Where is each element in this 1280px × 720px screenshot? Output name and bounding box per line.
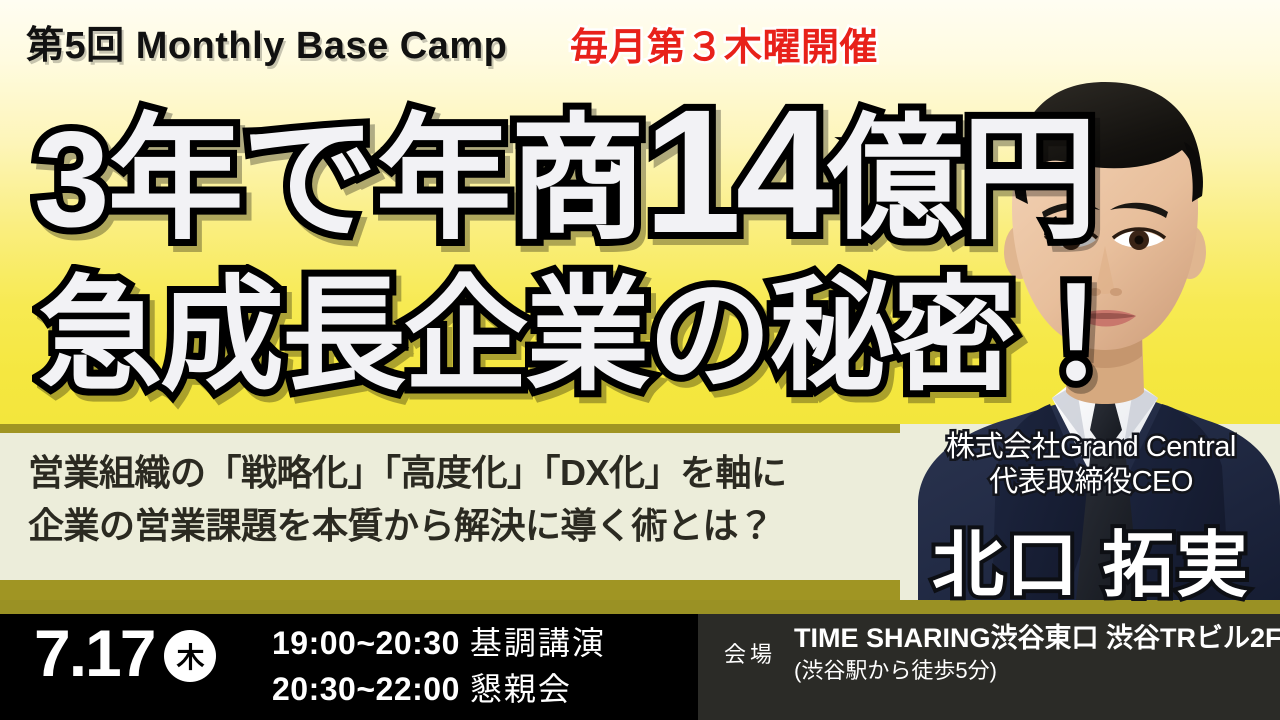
olive-divider-bottom [0,580,900,600]
speaker-name: 北口 拓実 [905,506,1277,611]
venue-block: 会場 TIME SHARING渋谷東口 渋谷TRビル2F (渋谷駅から徒歩5分) [724,620,1280,686]
headline-line-1: 3年で年商14億円 [34,84,1010,260]
schedule-row: 19:00~20:30基調講演 [272,620,606,666]
speaker-company: 株式会社Grand Central [905,430,1277,465]
subtitle-block: 営業組織の「戦略化」「高度化」「DX化」を軸に 企業の営業課題を本質から解決に導… [28,446,908,553]
venue-name: TIME SHARING渋谷東口 渋谷TRビル2F [794,620,1280,656]
headline-highlight-number: 14 [644,74,828,270]
session-time: 20:30~22:00 [272,671,460,707]
event-date: 7.17 [34,620,154,686]
session-time: 19:00~20:30 [272,625,460,661]
subtitle-line-2: 企業の営業課題を本質から解決に導く術とは？ [28,499,908,552]
venue-details: TIME SHARING渋谷東口 渋谷TRビル2F (渋谷駅から徒歩5分) [794,620,1280,686]
session-label: 基調講演 [470,625,606,661]
headline-block: 3年で年商14億円 急成長企業の秘密！ [0,84,1010,398]
header-row: 第5回 Monthly Base Camp 毎月第３木曜開催 [0,10,1280,66]
seminar-banner: 第5回 Monthly Base Camp 毎月第３木曜開催 3年で年商14億円… [0,0,1280,720]
recurrence-badge: 毎月第３木曜開催 [570,16,878,71]
headline-line-2: 急成長企業の秘密！ [38,274,1010,398]
speaker-affiliation: 株式会社Grand Central 代表取締役CEO [905,430,1277,501]
event-date-block: 7.17 木 [34,620,216,686]
subtitle-line-1: 営業組織の「戦略化」「高度化」「DX化」を軸に [28,446,908,499]
headline-line1-suffix: 億円 [827,103,1095,255]
schedule-row: 20:30~22:00懇親会 [272,666,606,712]
session-label: 懇親会 [470,671,572,707]
series-label: 第5回 Monthly Base Camp [26,14,507,69]
venue-tag: 会場 [724,637,776,669]
headline-line1-prefix: 3年で年商 [34,103,644,255]
speaker-title: 代表取締役CEO [905,465,1277,500]
olive-divider-top [0,424,900,433]
schedule-list: 19:00~20:30基調講演 20:30~22:00懇親会 [272,620,606,713]
venue-access: (渋谷駅から徒歩5分) [794,656,1280,686]
weekday-badge: 木 [164,630,216,682]
